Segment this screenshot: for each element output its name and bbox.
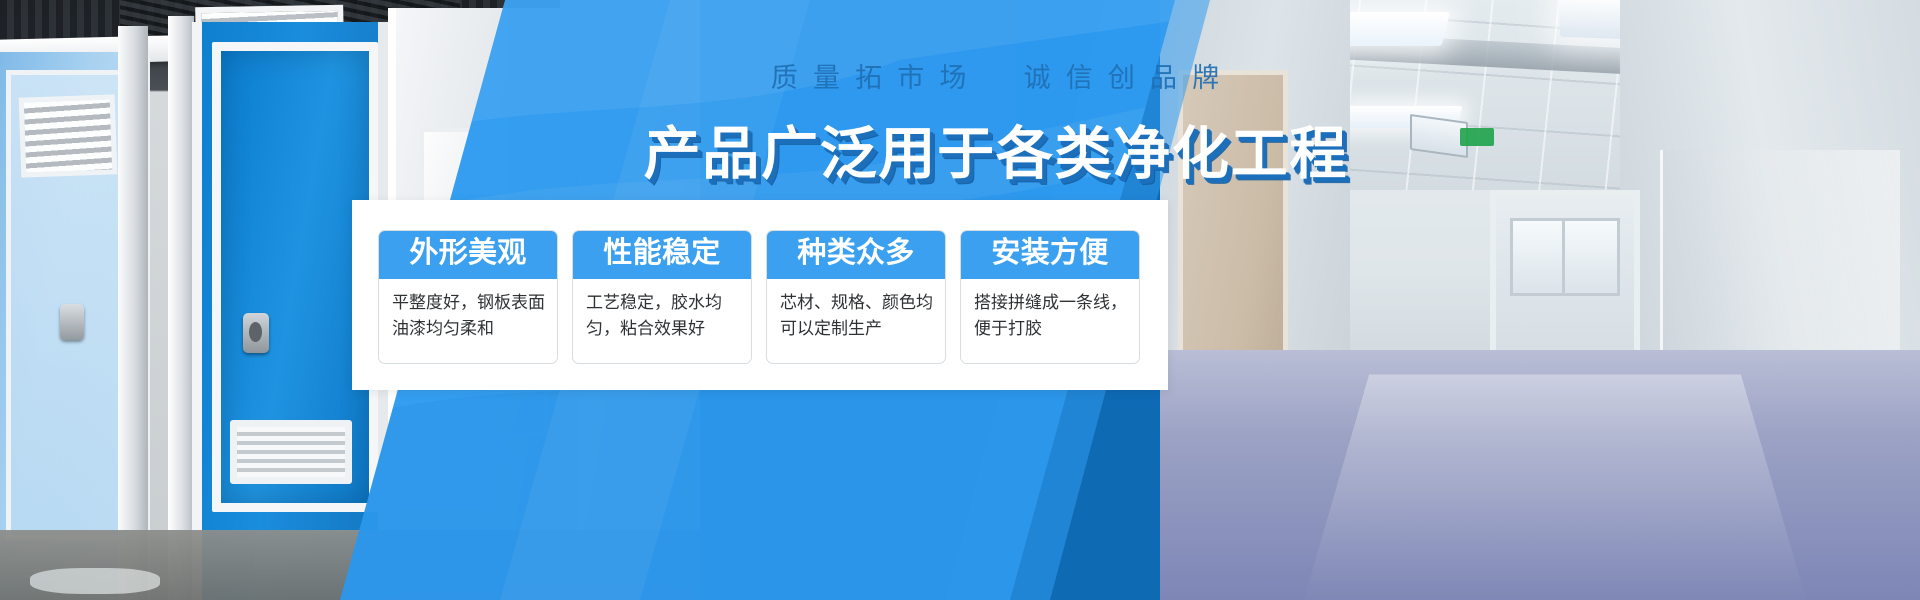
feature-card[interactable]: 外形美观 平整度好，钢板表面油漆均匀柔和 bbox=[378, 230, 558, 364]
door-handle-left bbox=[60, 304, 84, 340]
feature-card-desc: 平整度好，钢板表面油漆均匀柔和 bbox=[379, 279, 557, 354]
feature-card-title: 性能稳定 bbox=[572, 230, 752, 279]
door-handle-lock bbox=[243, 313, 269, 353]
feature-card-desc: 工艺稳定，胶水均匀，粘合效果好 bbox=[573, 279, 751, 354]
promo-banner: 质量拓市场 诚信创品牌 产品广泛用于各类净化工程 外形美观 平整度好，钢板表面油… bbox=[0, 0, 1920, 600]
banner-subtitle: 质量拓市场 诚信创品牌 bbox=[70, 62, 1920, 94]
feature-card-title: 种类众多 bbox=[766, 230, 946, 279]
feature-card-title: 安装方便 bbox=[960, 230, 1140, 279]
feature-card-desc: 芯材、规格、颜色均可以定制生产 bbox=[767, 279, 945, 354]
feature-card[interactable]: 种类众多 芯材、规格、颜色均可以定制生产 bbox=[766, 230, 946, 364]
headline-block: 质量拓市场 诚信创品牌 产品广泛用于各类净化工程 bbox=[0, 62, 1920, 190]
door-vent-grille bbox=[230, 420, 352, 484]
corridor-floor bbox=[1160, 350, 1920, 600]
banner-headline: 产品广泛用于各类净化工程 bbox=[70, 108, 1920, 190]
feature-card[interactable]: 安装方便 搭接拼缝成一条线，便于打胶 bbox=[960, 230, 1140, 364]
feature-card[interactable]: 性能稳定 工艺稳定，胶水均匀，粘合效果好 bbox=[572, 230, 752, 364]
feature-cards-panel: 外形美观 平整度好，钢板表面油漆均匀柔和 性能稳定 工艺稳定，胶水均匀，粘合效果… bbox=[352, 200, 1168, 390]
feature-card-desc: 搭接拼缝成一条线，便于打胶 bbox=[961, 279, 1139, 354]
feature-card-title: 外形美观 bbox=[378, 230, 558, 279]
